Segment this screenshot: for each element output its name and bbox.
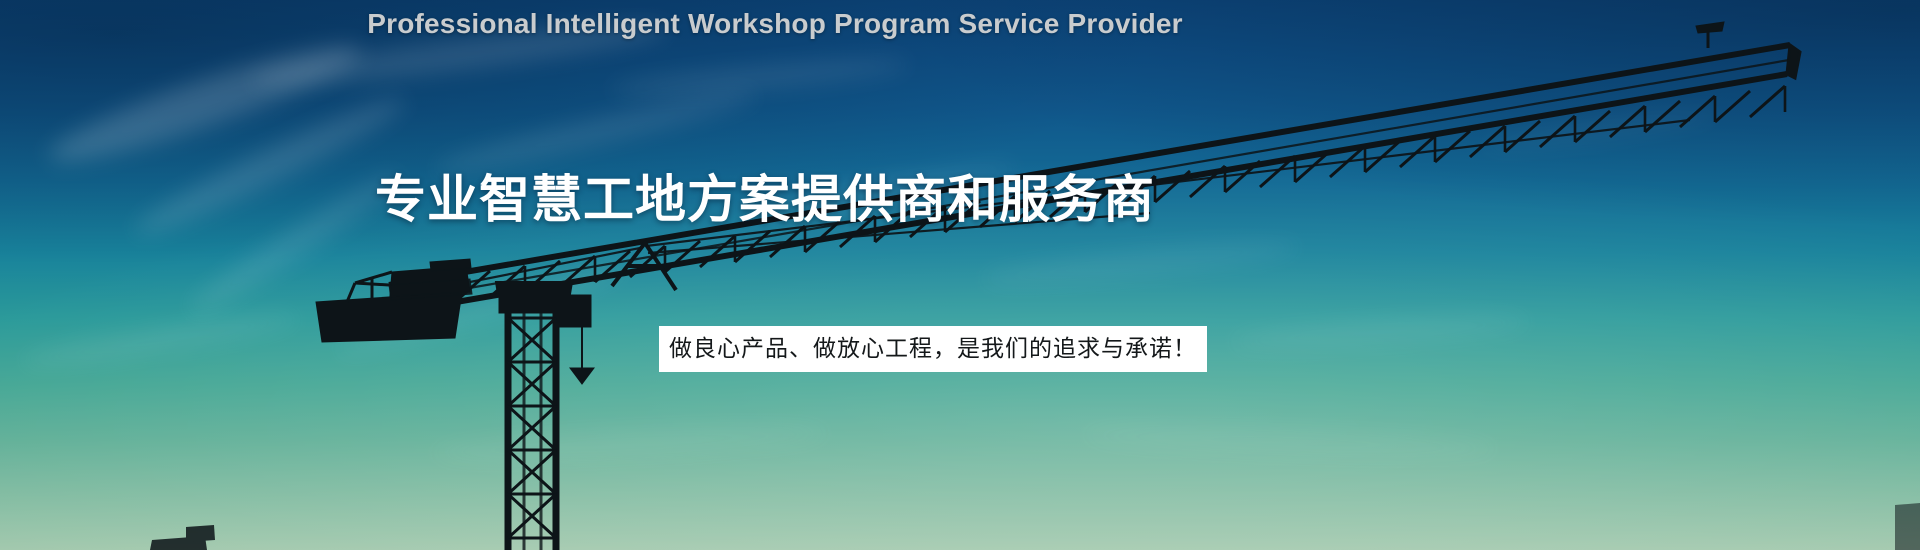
banner-eyebrow-english: Professional Intelligent Workshop Progra… (0, 8, 1550, 40)
hero-banner: Professional Intelligent Workshop Progra… (0, 0, 1920, 550)
banner-subtitle: 做良心产品、做放心工程，是我们的追求与承诺！ (659, 326, 1207, 372)
banner-subtitle-container: 做良心产品、做放心工程，是我们的追求与承诺！ (0, 326, 1866, 372)
banner-headline: 专业智慧工地方案提供商和服务商 (0, 158, 1530, 232)
hero-text-block: Professional Intelligent Workshop Progra… (0, 0, 1920, 550)
